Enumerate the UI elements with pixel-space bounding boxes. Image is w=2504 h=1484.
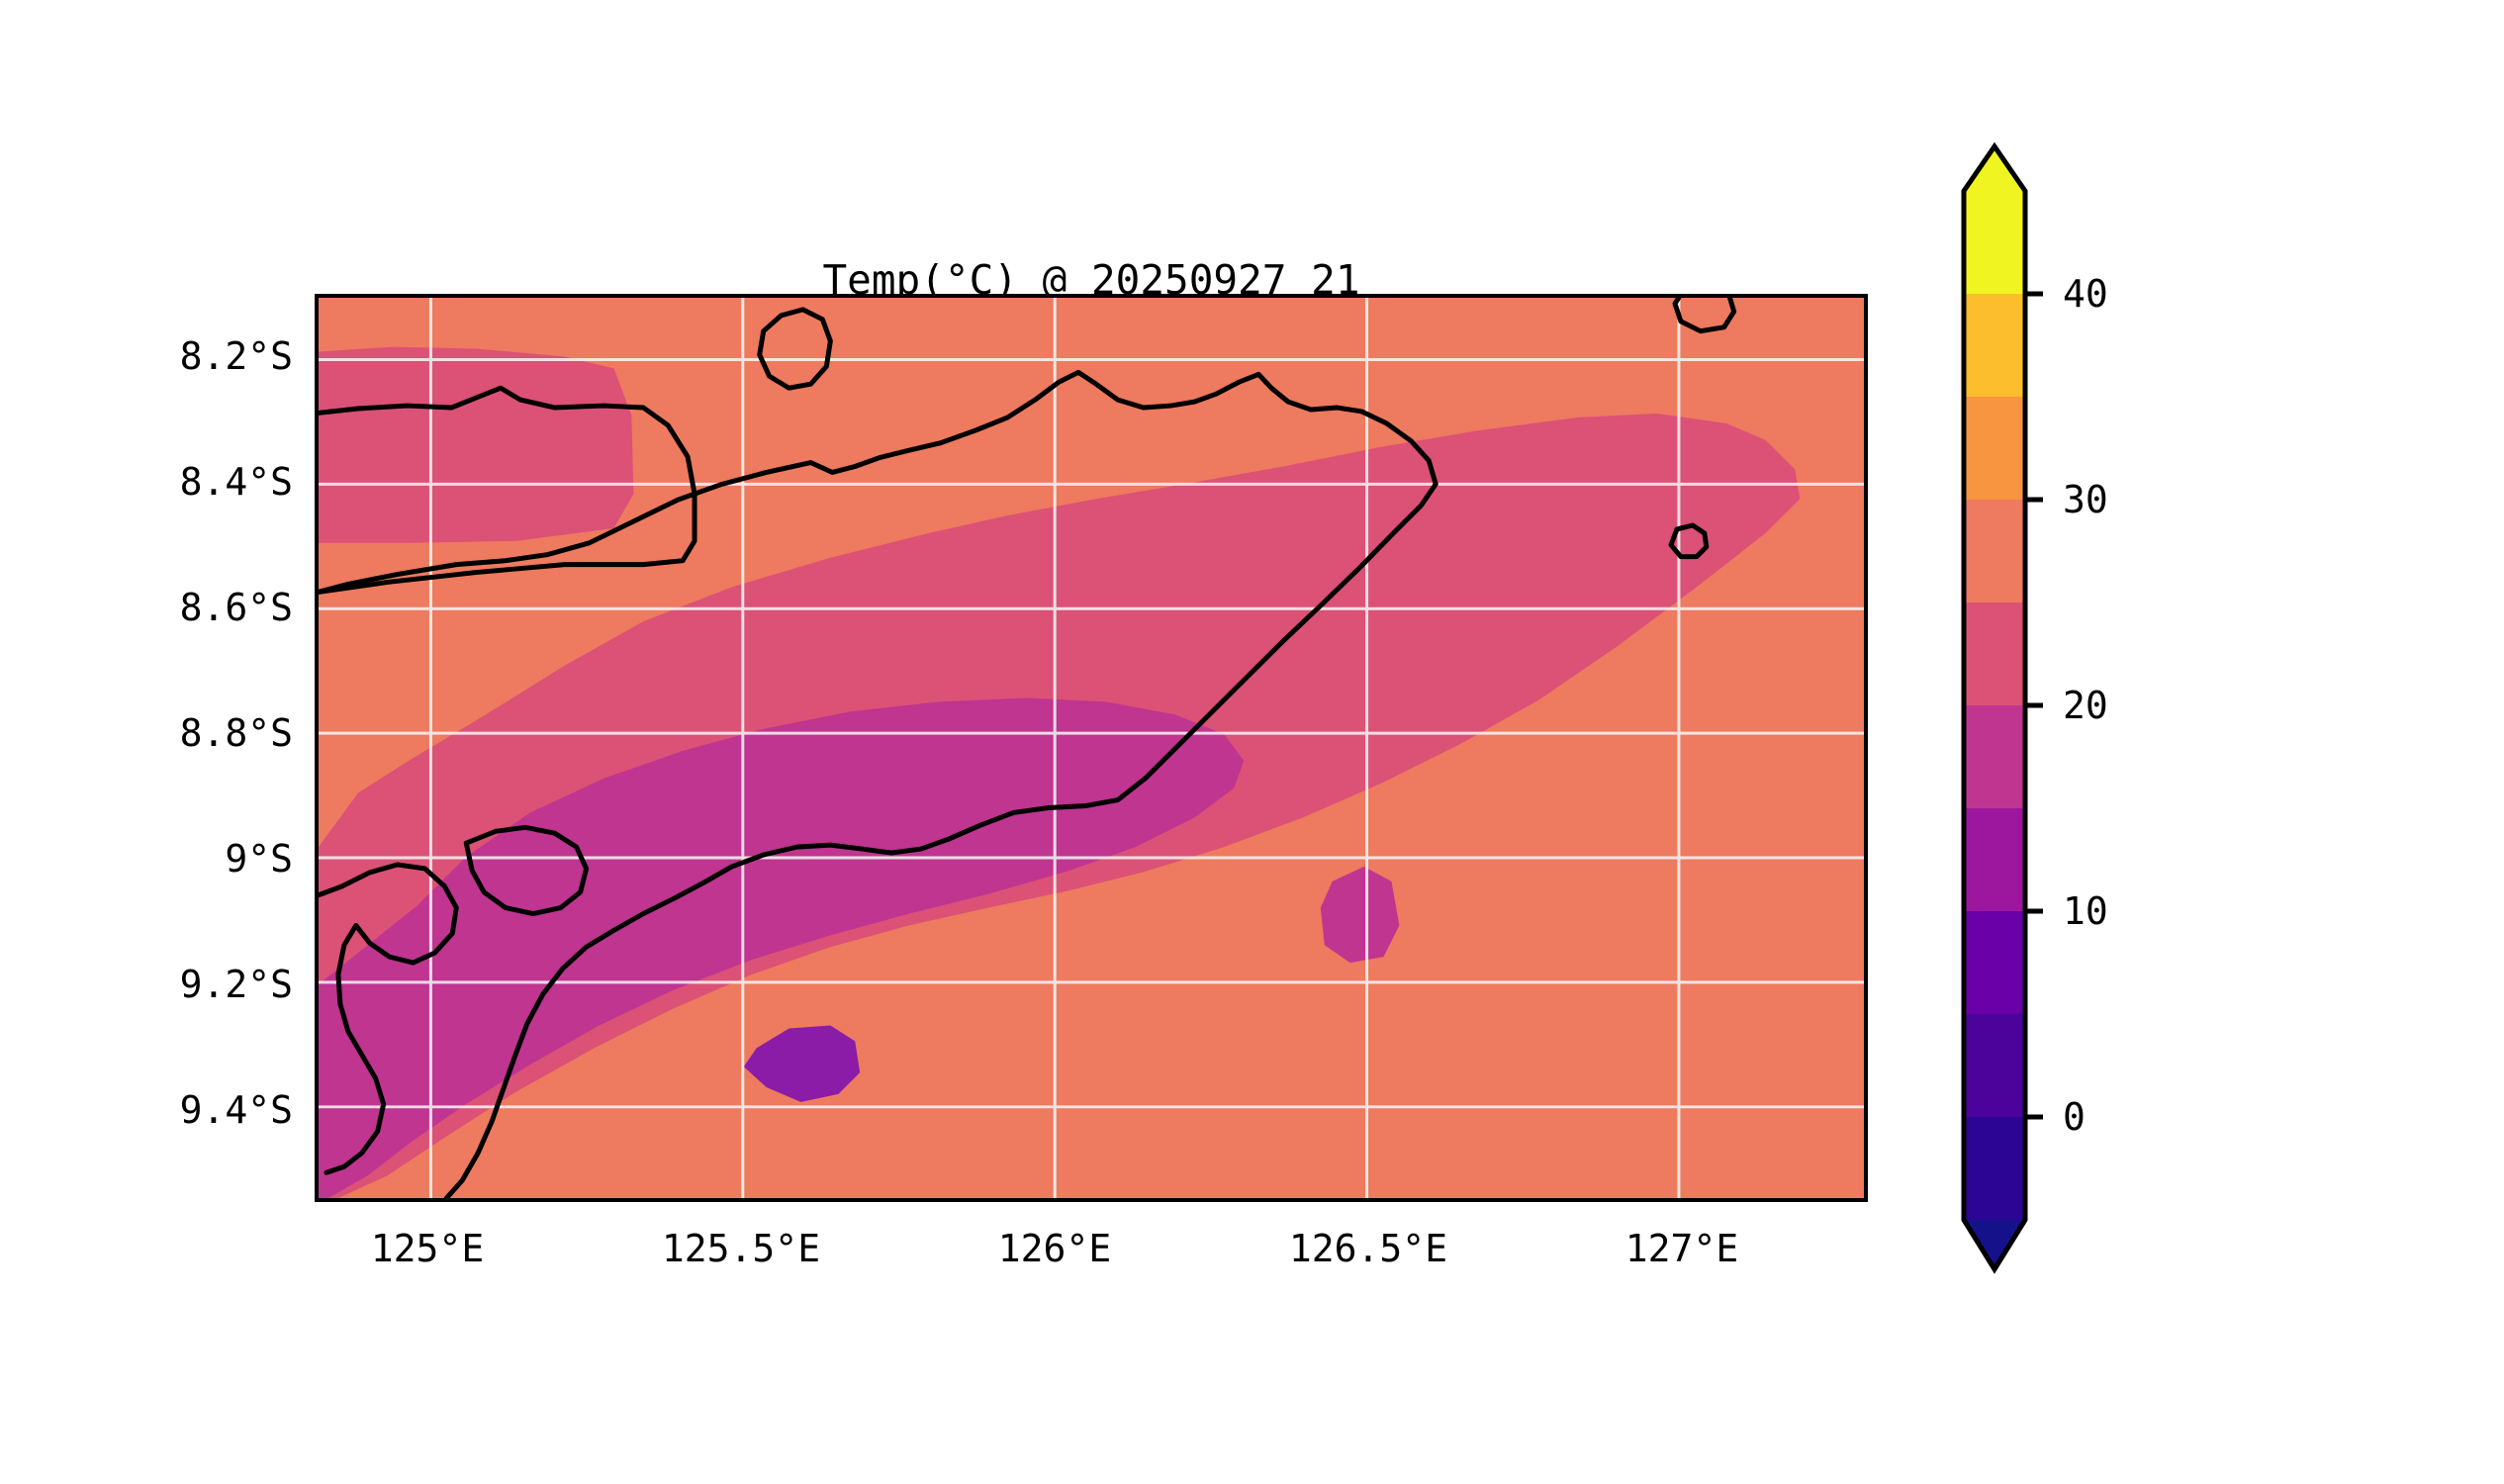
colorbar-tick-label-10: 10	[2063, 889, 2108, 933]
ytick-label-9S: 9°S	[225, 837, 293, 881]
colorbar-tick-marks	[2025, 294, 2043, 1117]
xtick-label-126E: 126°E	[998, 1227, 1111, 1270]
figure-canvas: Temp(°C) @ 20250927_21 Simulation Time: …	[0, 0, 2504, 1484]
colorbar-band-5-10	[1964, 911, 2025, 1014]
colorbar-over-arrow	[1964, 146, 2025, 191]
colorbar-band-25-30	[1964, 500, 2025, 603]
colorbar-band-neg5-0	[1964, 1117, 2025, 1220]
temperature-contour-map	[319, 298, 1864, 1198]
colorbar-band-30-35	[1964, 397, 2025, 500]
xtick-label-127E: 127°E	[1625, 1227, 1738, 1270]
colorbar-gradient	[1964, 146, 2025, 1314]
colorbar-tick-label-0: 0	[2063, 1095, 2086, 1139]
colorbar-tick-label-20: 20	[2063, 684, 2108, 727]
ytick-label-8.4S: 8.4°S	[180, 460, 293, 504]
ytick-label-9.2S: 9.2°S	[180, 963, 293, 1006]
ytick-label-8.2S: 8.2°S	[180, 334, 293, 378]
colorbar-band-15-20	[1964, 705, 2025, 808]
colorbar-band-10-15	[1964, 808, 2025, 911]
colorbar	[1964, 146, 2025, 1314]
colorbar-band-0-5	[1964, 1014, 2025, 1117]
colorbar-band-40-45	[1964, 191, 2025, 294]
colorbar-band-35-40	[1964, 294, 2025, 397]
xtick-label-125E: 125°E	[371, 1227, 484, 1270]
xtick-label-126.5E: 126.5°E	[1289, 1227, 1447, 1270]
ytick-label-9.4S: 9.4°S	[180, 1088, 293, 1132]
map-axes	[315, 294, 1868, 1202]
ytick-label-8.8S: 8.8°S	[180, 711, 293, 755]
ytick-label-8.6S: 8.6°S	[180, 586, 293, 629]
colorbar-band-20-25	[1964, 603, 2025, 705]
xtick-label-125.5E: 125.5°E	[662, 1227, 820, 1270]
colorbar-under-arrow	[1964, 1220, 2025, 1269]
colorbar-tick-label-30: 30	[2063, 478, 2108, 521]
colorbar-tick-label-40: 40	[2063, 272, 2108, 316]
